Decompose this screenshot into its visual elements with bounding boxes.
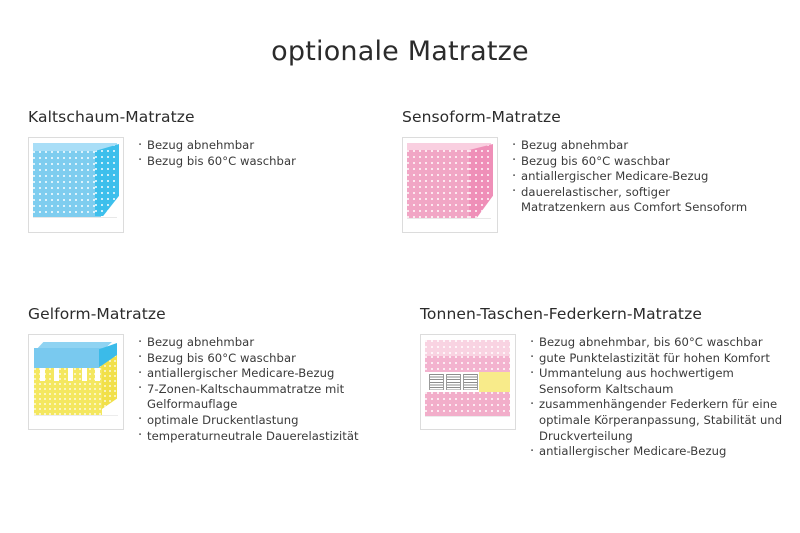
layer-texture (425, 356, 510, 372)
sensoform-mattress-image (402, 137, 498, 233)
section-body-sensoform: Bezug abnehmbar Bezug bis 60°C waschbar … (402, 137, 792, 233)
section-body-kaltschaum: Bezug abnehmbar Bezug bis 60°C waschbar (28, 137, 388, 233)
section-title-sensoform: Sensoform-Matratze (402, 108, 792, 126)
list-item: Bezug abnehmbar (512, 138, 792, 154)
page-title: optionale Matratze (0, 36, 800, 67)
gelform-mattress-image (28, 334, 124, 430)
section-body-gelform: Bezug abnehmbar Bezug bis 60°C waschbar … (28, 334, 388, 444)
list-item: antiallergischer Medicare-Bezug (138, 366, 388, 382)
list-item: temperaturneutrale Dauerelastizität (138, 429, 388, 445)
perforation-pattern-side (469, 144, 493, 218)
zone-slot (68, 368, 73, 381)
list-item: optimale Druckentlastung (138, 413, 388, 429)
list-item: zusammenhängender Federkern für eine opt… (530, 397, 795, 444)
gelform-mattress-illustration (29, 335, 123, 429)
list-item: Bezug bis 60°C waschbar (512, 154, 792, 170)
bullet-list-gelform: Bezug abnehmbar Bezug bis 60°C waschbar … (138, 334, 388, 444)
section-tonnen-taschen-federkern: Tonnen-Taschen-Federkern-Matratze Bezug … (420, 305, 795, 460)
section-title-kaltschaum: Kaltschaum-Matratze (28, 108, 388, 126)
mattress-base-strip (425, 416, 510, 425)
list-item: Bezug bis 60°C waschbar (138, 154, 388, 170)
list-item: 7-Zonen-Kaltschaummatratze mit Gelformau… (138, 382, 388, 413)
mattress-base-strip (33, 217, 117, 228)
gel-layer-front-face (34, 348, 102, 369)
pocket-spring-icon (463, 374, 478, 390)
kaltschaum-mattress-illustration (29, 138, 123, 232)
list-item: gute Punktelastizität für hohen Komfort (530, 351, 795, 367)
mattress-front-face (33, 151, 101, 217)
list-item: Bezug bis 60°C waschbar (138, 351, 388, 367)
zone-slot (54, 368, 59, 381)
bullet-list-kaltschaum: Bezug abnehmbar Bezug bis 60°C waschbar (138, 137, 388, 169)
bullet-list-sensoform: Bezug abnehmbar Bezug bis 60°C waschbar … (512, 137, 792, 216)
mattress-front-face (407, 150, 475, 218)
mattress-base-strip (34, 415, 118, 425)
comfort-layer (425, 356, 510, 372)
section-title-tonnen-taschen-federkern: Tonnen-Taschen-Federkern-Matratze (420, 305, 795, 323)
pocket-spring-icon (446, 374, 461, 390)
layer-texture (425, 340, 510, 356)
kaltschaum-mattress-image (28, 137, 124, 233)
list-item: Ummantelung aus hochwertigem Sensoform K… (530, 366, 795, 397)
federkern-mattress-illustration (421, 335, 515, 429)
section-gelform: Gelform-Matratze Bezug abnehmbar (28, 305, 388, 444)
tonnen-taschen-federkern-mattress-image (420, 334, 516, 430)
section-kaltschaum: Kaltschaum-Matratze Bezug abnehmbar Bezu… (28, 108, 388, 233)
mattress-base-strip (407, 218, 491, 228)
list-item: Bezug abnehmbar (138, 335, 388, 351)
sensoform-mattress-illustration (403, 138, 497, 232)
list-item: antiallergischer Medicare-Bezug (512, 169, 792, 185)
perforation-pattern (33, 151, 101, 217)
section-body-tonnen-taschen-federkern: Bezug abnehmbar, bis 60°C waschbar gute … (420, 334, 795, 460)
zone-slot (40, 368, 45, 381)
section-title-gelform: Gelform-Matratze (28, 305, 388, 323)
layer-texture (425, 392, 510, 416)
foam-core-front-face (34, 368, 102, 416)
section-sensoform: Sensoform-Matratze Bezug abnehmbar Bezug… (402, 108, 792, 233)
list-item: dauerelastischer, softiger Matratzenkern… (512, 185, 792, 216)
perforation-pattern (407, 150, 475, 218)
support-layer (425, 392, 510, 416)
zone-slot (82, 368, 87, 381)
bullet-list-tonnen-taschen-federkern: Bezug abnehmbar, bis 60°C waschbar gute … (530, 334, 795, 460)
zone-slot (95, 368, 100, 381)
mattress-side-face (95, 144, 119, 216)
foam-encasement-block (479, 372, 510, 392)
perforation-pattern-side (95, 144, 119, 216)
cover-layer (425, 340, 510, 356)
pocket-spring-icon (429, 374, 444, 390)
list-item: Bezug abnehmbar (138, 138, 388, 154)
list-item: Bezug abnehmbar, bis 60°C waschbar (530, 335, 795, 351)
list-item: antiallergischer Medicare-Bezug (530, 444, 795, 460)
mattress-side-face (469, 144, 493, 218)
